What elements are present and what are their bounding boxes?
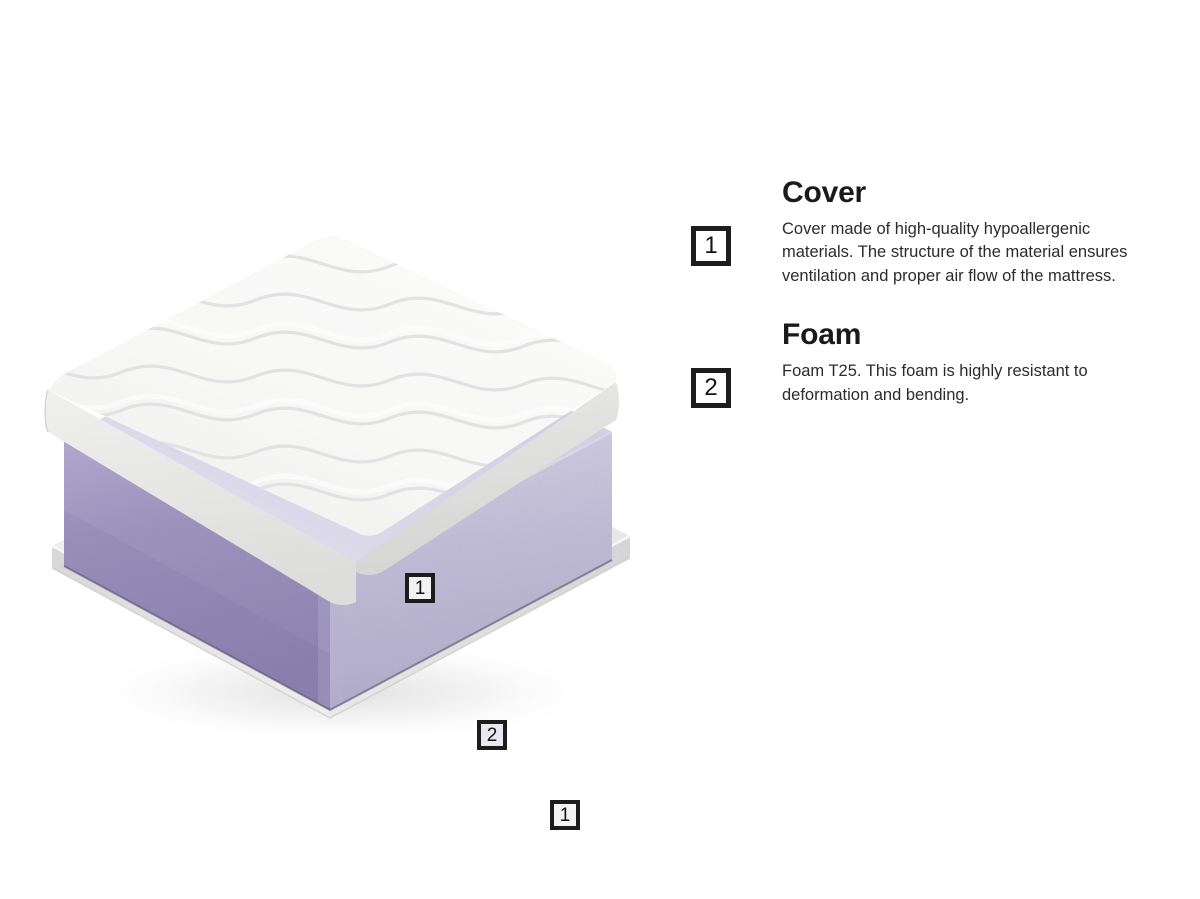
legend-panel: 1 Cover Cover made of high-quality hypoa…: [691, 176, 1161, 407]
marker-base-1[interactable]: 1: [550, 800, 580, 830]
legend-body-cover: Cover Cover made of high-quality hypoall…: [782, 176, 1161, 288]
mattress-layers-illustration: 1 2 1: [30, 210, 670, 740]
marker-cover-1[interactable]: 1: [405, 573, 435, 603]
diagram-canvas: 1 2 1 1 Cover Cover made of high-quality…: [0, 0, 1200, 899]
legend-title-cover: Cover: [782, 176, 1161, 209]
legend-title-foam: Foam: [782, 318, 1161, 351]
legend-entry-foam: 2 Foam Foam T25. This foam is highly res…: [691, 318, 1161, 407]
legend-entry-cover: 1 Cover Cover made of high-quality hypoa…: [691, 176, 1161, 288]
marker-foam-2[interactable]: 2: [477, 720, 507, 750]
legend-text-cover: Cover made of high-quality hypoallergeni…: [782, 218, 1154, 288]
legend-body-foam: Foam Foam T25. This foam is highly resis…: [782, 318, 1161, 407]
legend-badge-1[interactable]: 1: [691, 226, 731, 266]
legend-badge-2[interactable]: 2: [691, 368, 731, 408]
legend-text-foam: Foam T25. This foam is highly resistant …: [782, 360, 1154, 407]
